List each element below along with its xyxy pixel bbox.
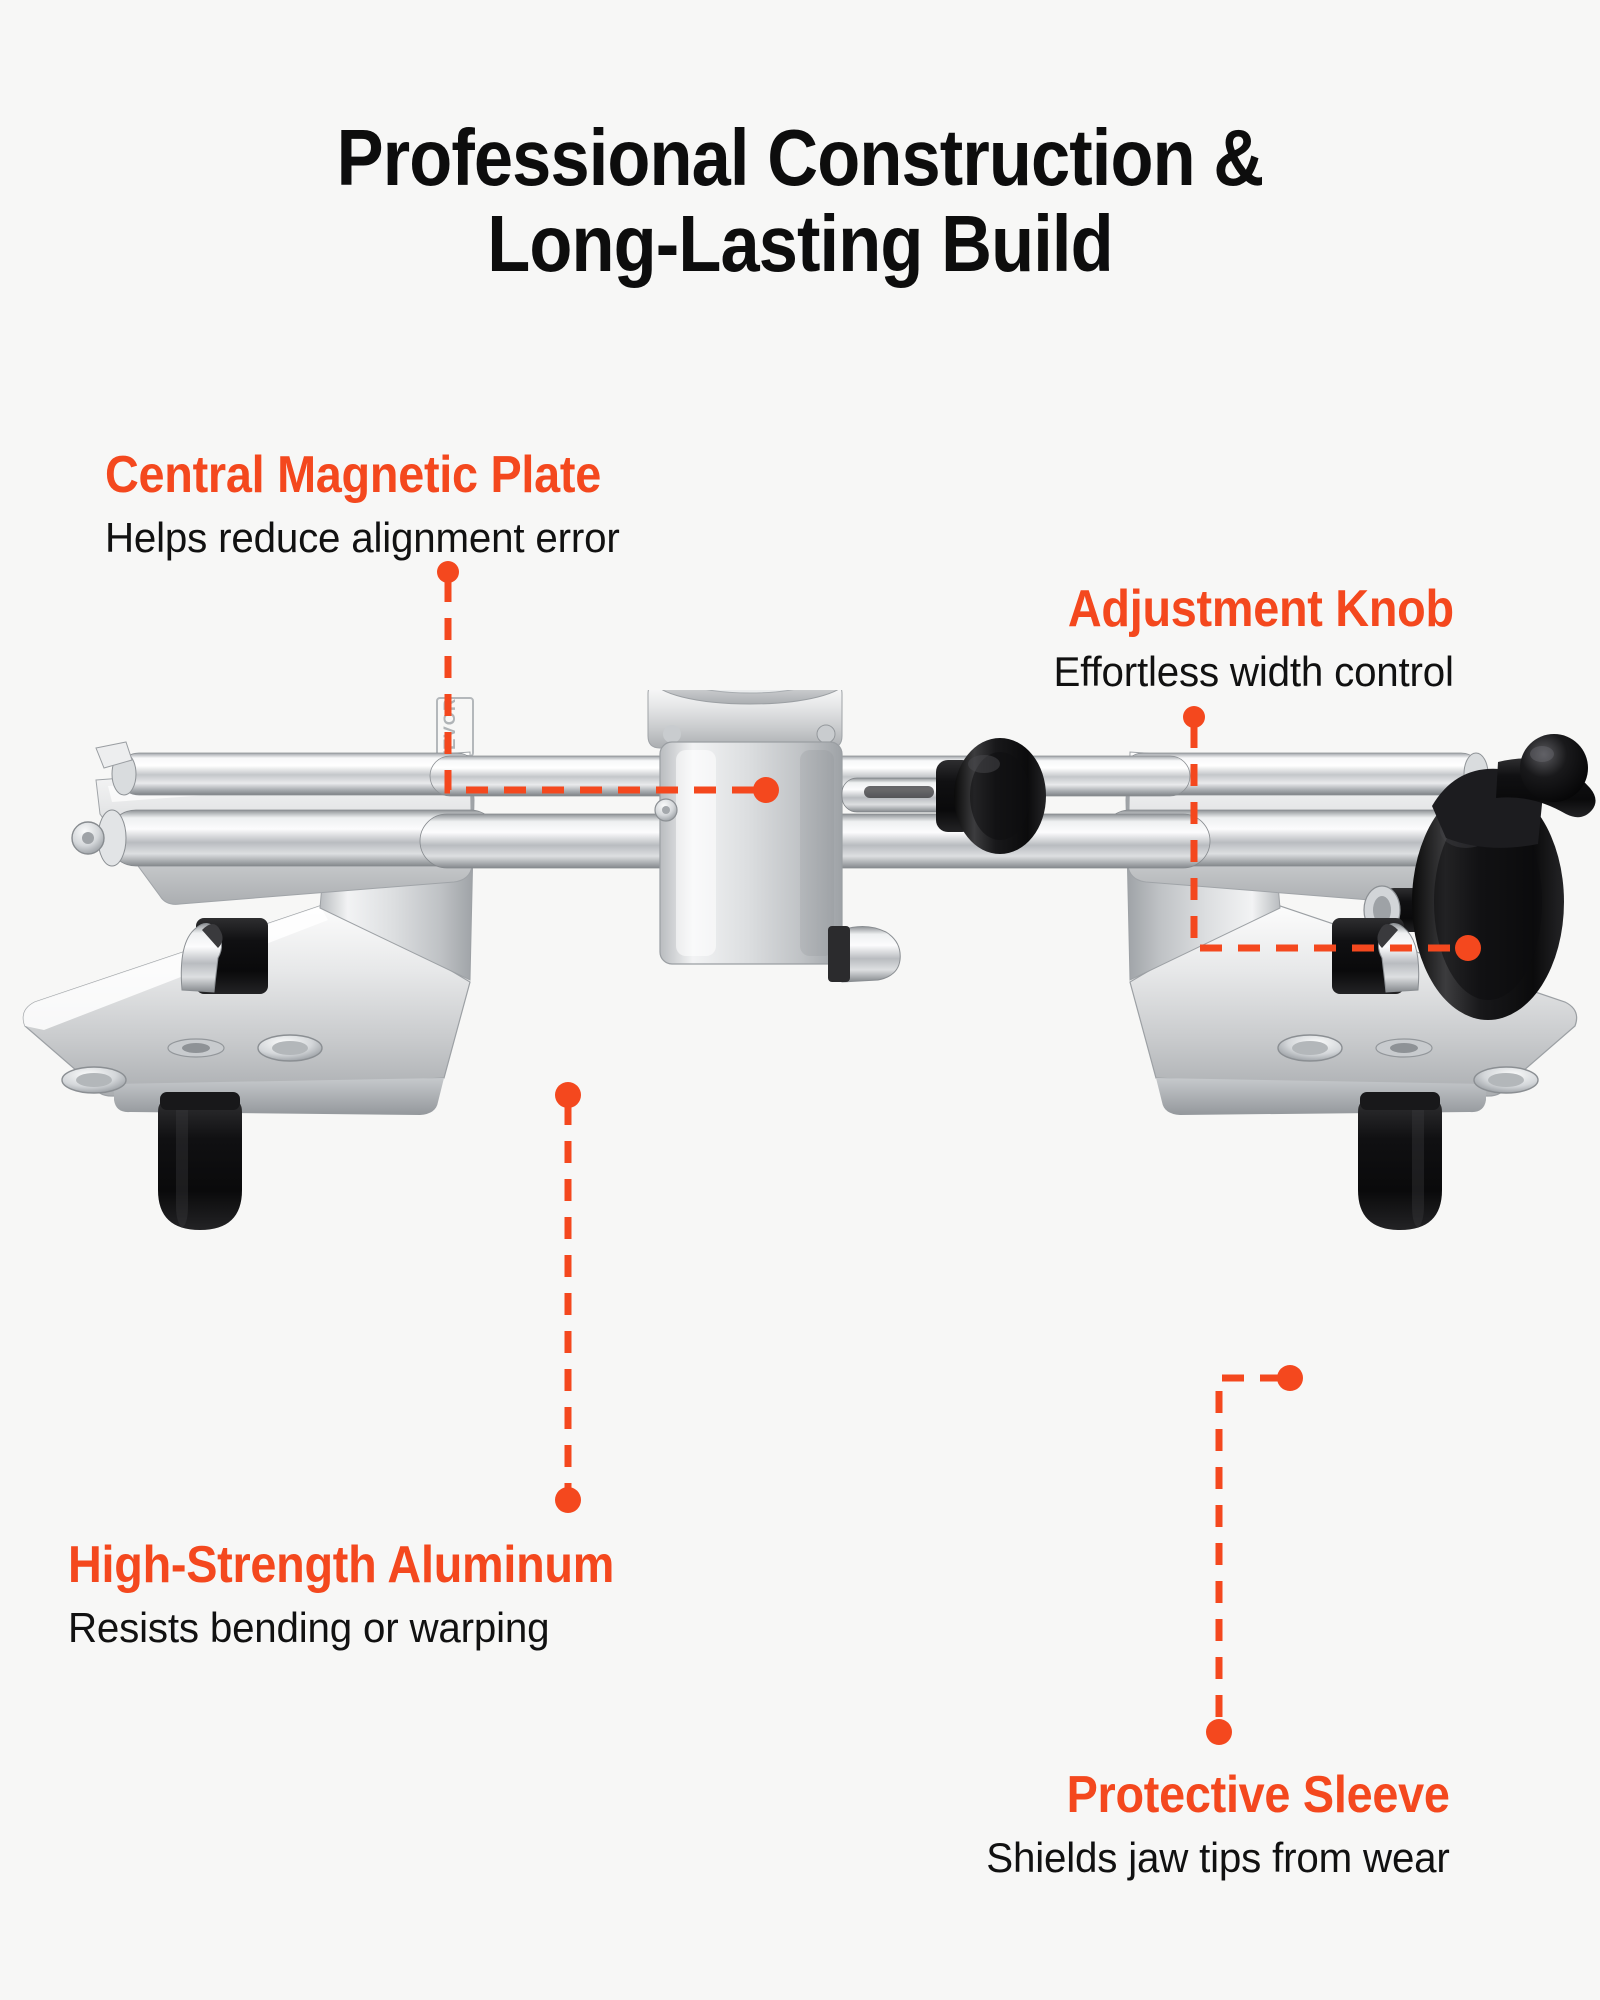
leader-dot-sleeve-start <box>1277 1365 1303 1391</box>
callout-subtext-aluminum: Resists bending or warping <box>68 1603 650 1653</box>
callout-subtext-magnetic-plate: Helps reduce alignment error <box>105 513 634 563</box>
leader-dot-magnetic-end <box>753 777 779 803</box>
callout-heading-protective-sleeve: Protective Sleeve <box>1016 1768 1450 1823</box>
callout-adjustment-knob: Adjustment Knob Effortless width control <box>1025 582 1454 698</box>
callout-heading-magnetic-plate: Central Magnetic Plate <box>105 448 601 503</box>
callout-subtext-adjustment-knob: Effortless width control <box>1042 647 1454 697</box>
leader-dot-sleeve-end <box>1206 1719 1232 1745</box>
callout-protective-sleeve: Protective Sleeve Shields jaw tips from … <box>967 1768 1450 1884</box>
callout-high-strength-aluminum: High-Strength Aluminum Resists bending o… <box>68 1538 675 1654</box>
leader-dot-aluminum-start <box>555 1082 581 1108</box>
callout-subtext-protective-sleeve: Shields jaw tips from wear <box>987 1833 1450 1883</box>
leader-dot-aluminum-end <box>555 1487 581 1513</box>
leader-dot-knob-start <box>1183 706 1205 728</box>
infographic-canvas: Professional Construction & Long-Lasting… <box>0 0 1600 2000</box>
callout-heading-adjustment-knob: Adjustment Knob <box>1068 582 1454 637</box>
callout-central-magnetic-plate: Central Magnetic Plate Helps reduce alig… <box>105 448 656 564</box>
leader-lines <box>0 0 1600 2000</box>
leader-magnetic-plate <box>448 580 766 790</box>
leader-dot-magnetic-start <box>437 561 459 583</box>
leader-protective-sleeve <box>1219 1378 1282 1724</box>
leader-adjustment-knob <box>1194 726 1459 948</box>
callout-heading-aluminum: High-Strength Aluminum <box>68 1538 614 1593</box>
leader-dot-knob-end <box>1455 935 1481 961</box>
